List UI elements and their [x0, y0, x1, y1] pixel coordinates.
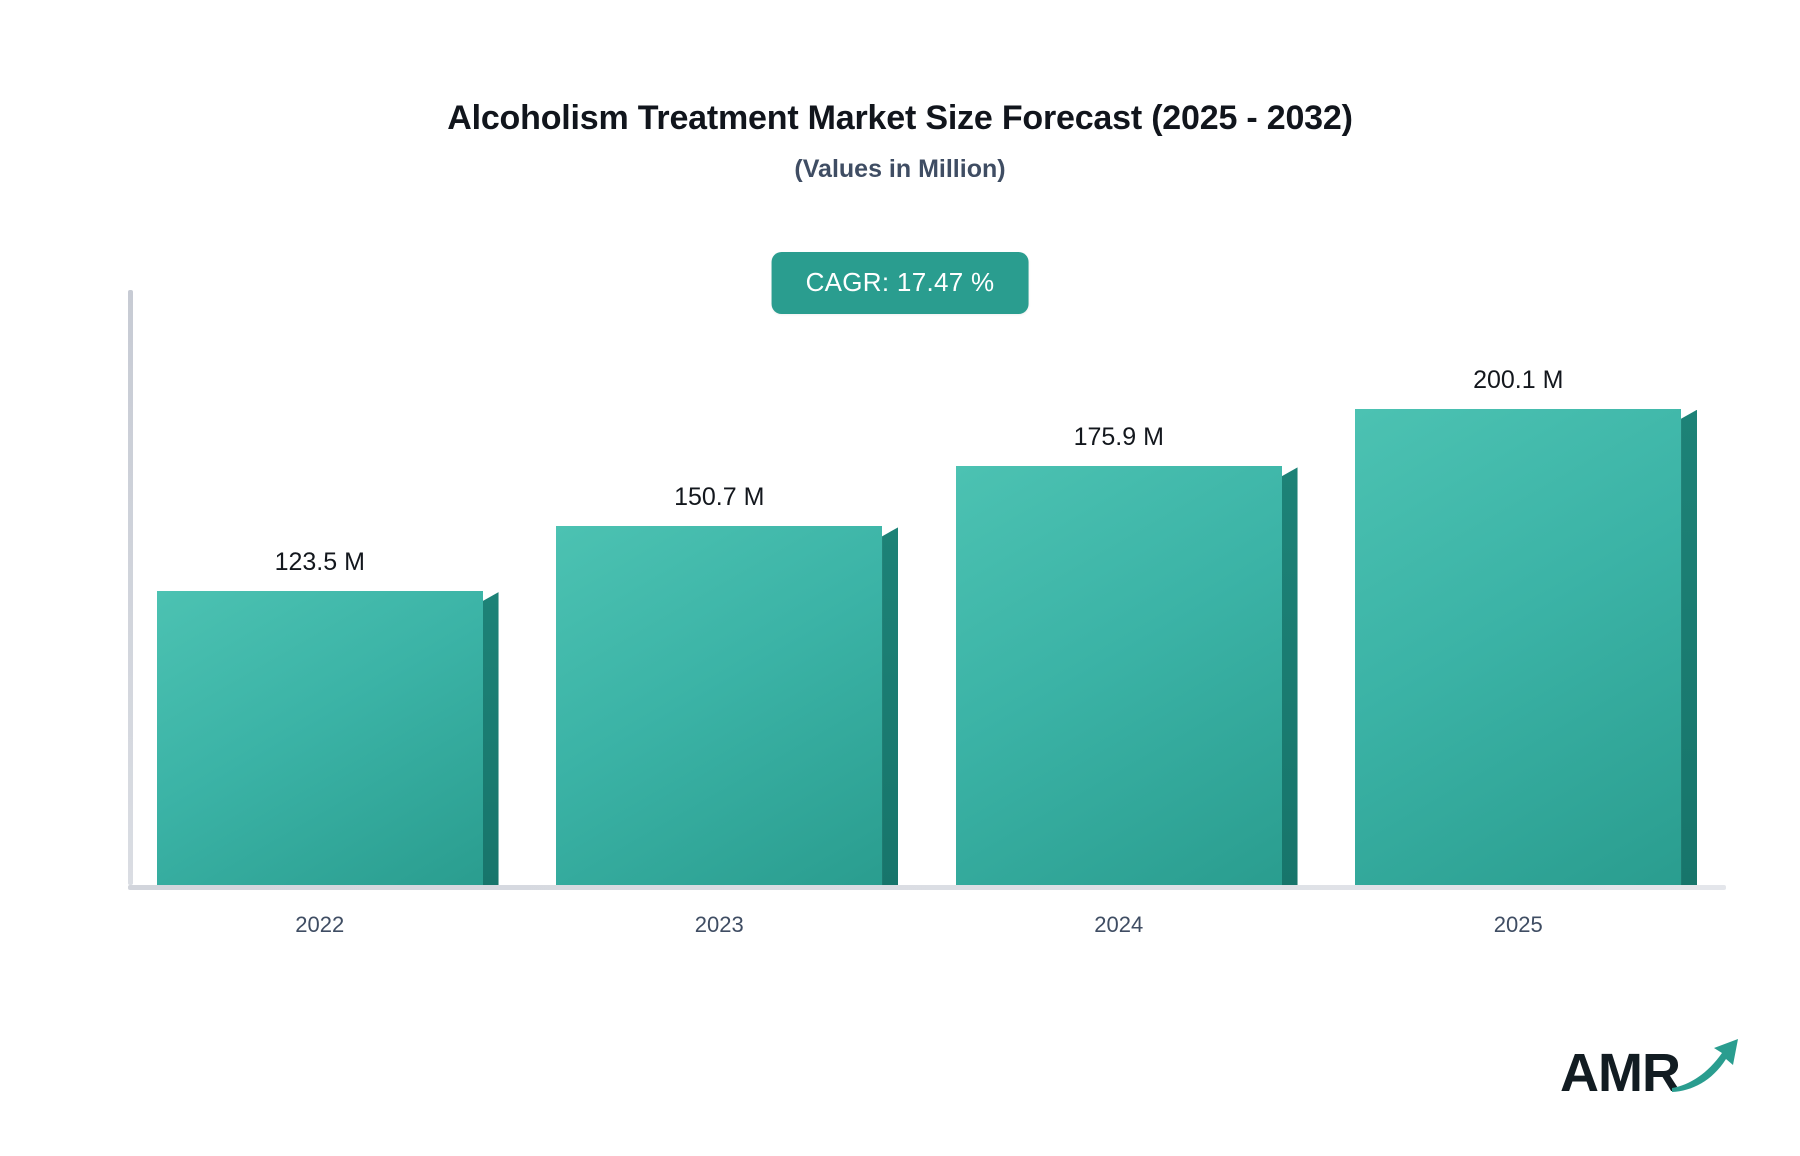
amr-logo: AMR: [1560, 1035, 1742, 1100]
bar-face: [1355, 409, 1681, 885]
plot-area: 123.5 M150.7 M175.9 M200.1 M: [128, 290, 1726, 890]
bar-side-face: [483, 592, 499, 885]
bar-face: [556, 526, 882, 885]
growth-arrow-icon: [1670, 1035, 1742, 1098]
x-axis-line: [128, 885, 1726, 890]
bar[interactable]: 175.9 M: [956, 466, 1282, 885]
chart-subtitle: (Values in Million): [0, 155, 1800, 184]
x-axis-category-label: 2022: [295, 912, 344, 938]
bar-value-label: 150.7 M: [556, 483, 882, 512]
x-axis-category-label: 2024: [1094, 912, 1143, 938]
bar-face: [956, 466, 1282, 885]
x-axis-category-label: 2025: [1494, 912, 1543, 938]
bar-value-label: 123.5 M: [157, 548, 483, 577]
y-axis-line: [128, 290, 133, 885]
amr-logo-text: AMR: [1560, 1046, 1680, 1100]
bar-value-label: 175.9 M: [956, 423, 1282, 452]
bar-side-face: [1282, 467, 1298, 885]
chart-canvas: Alcoholism Treatment Market Size Forecas…: [0, 0, 1800, 1156]
bar[interactable]: 150.7 M: [556, 526, 882, 885]
bar-value-label: 200.1 M: [1355, 366, 1681, 395]
bar-face: [157, 591, 483, 885]
bar-side-face: [882, 527, 898, 885]
chart-title: Alcoholism Treatment Market Size Forecas…: [0, 100, 1800, 137]
title-block: Alcoholism Treatment Market Size Forecas…: [0, 100, 1800, 184]
bar[interactable]: 123.5 M: [157, 591, 483, 885]
x-axis-category-label: 2023: [695, 912, 744, 938]
bar[interactable]: 200.1 M: [1355, 409, 1681, 885]
bar-side-face: [1681, 410, 1697, 885]
